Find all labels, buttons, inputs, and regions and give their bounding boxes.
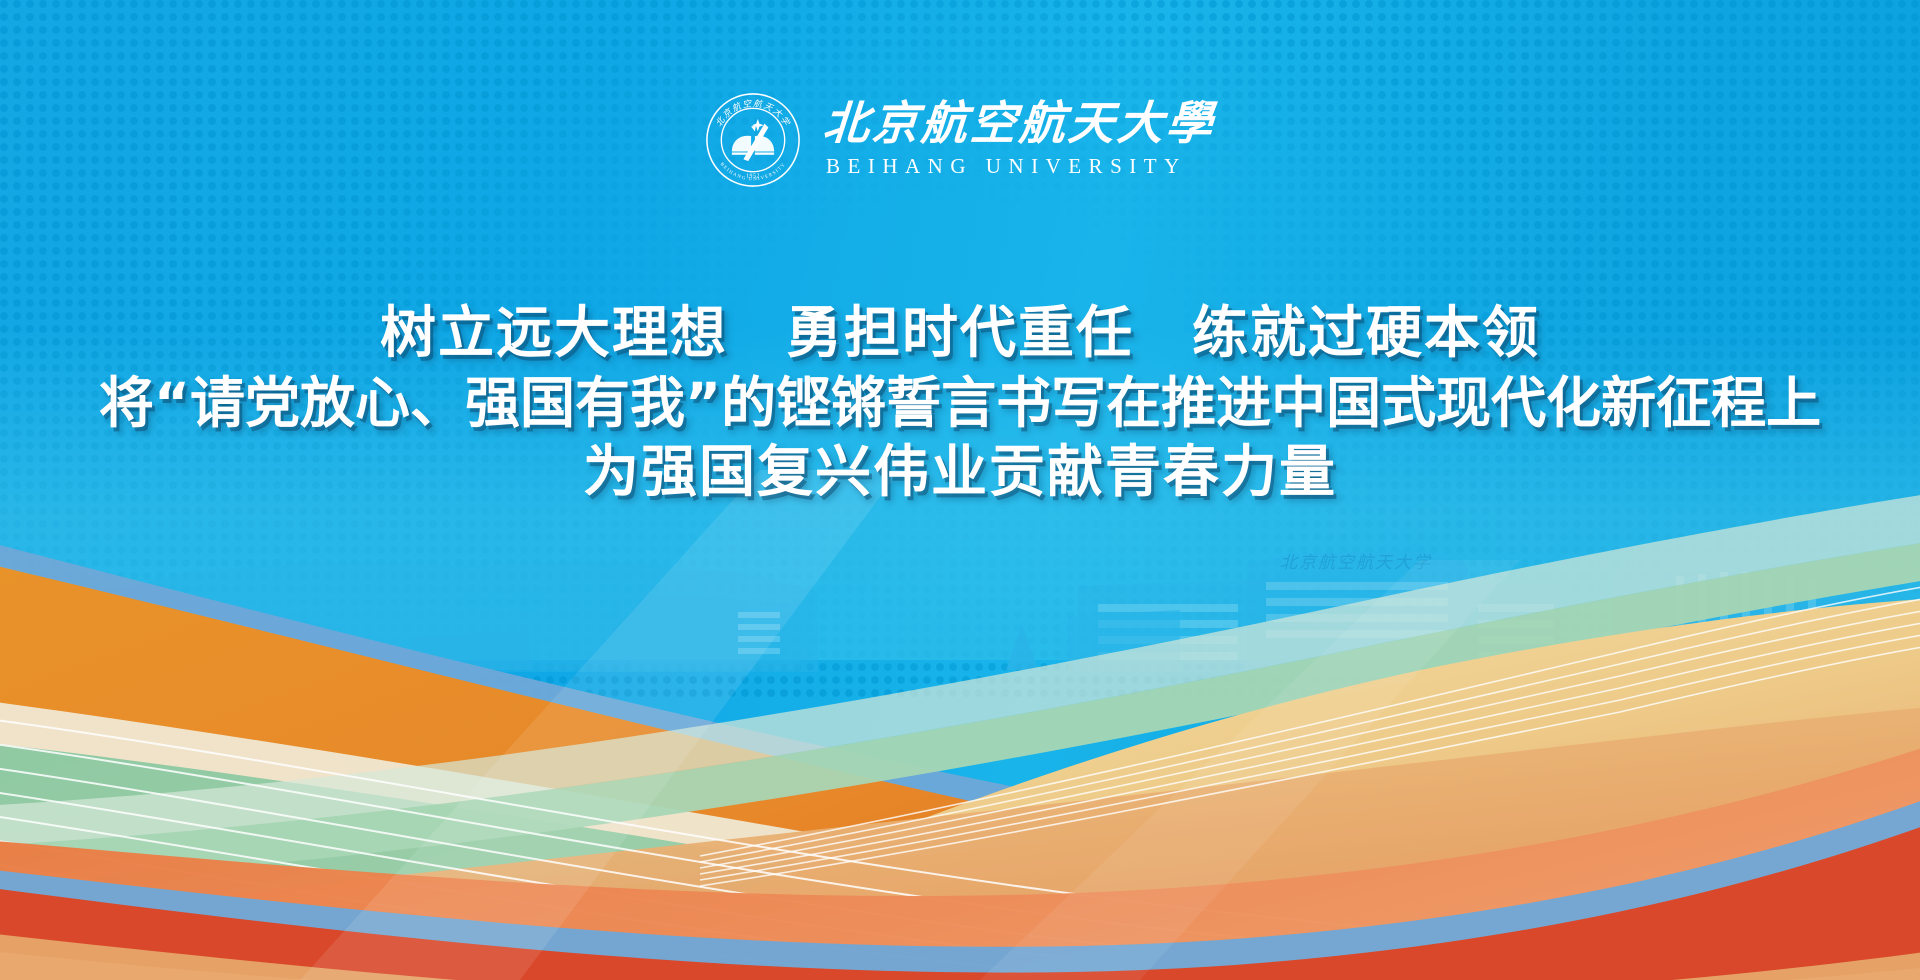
university-wordmark: 北京航空航天大學 BEIHANG UNIVERSITY (823, 101, 1215, 179)
beihang-seal-icon: 北京航空航天大学 BEIHANG UNIVERSITY 1952 (705, 92, 801, 188)
university-name-en: BEIHANG UNIVERSITY (823, 154, 1187, 179)
slogan-line-3: 为强国复兴伟业贡献青春力量 (0, 438, 1920, 508)
slogan-line-1: 树立远大理想 勇担时代重任 练就过硬本领 (0, 300, 1920, 368)
banner-root: 北京航空航天大学 (0, 0, 1920, 980)
university-logo-lockup: 北京航空航天大学 BEIHANG UNIVERSITY 1952 北京航空航天大… (0, 92, 1920, 188)
svg-text:1952: 1952 (746, 173, 760, 179)
slogan-line-2: 将“请党放心、强国有我”的铿锵誓言书写在推进中国式现代化新征程上 (0, 368, 1920, 438)
slogan-block: 树立远大理想 勇担时代重任 练就过硬本领 将“请党放心、强国有我”的铿锵誓言书写… (0, 300, 1920, 508)
university-name-cn: 北京航空航天大學 (821, 101, 1216, 148)
